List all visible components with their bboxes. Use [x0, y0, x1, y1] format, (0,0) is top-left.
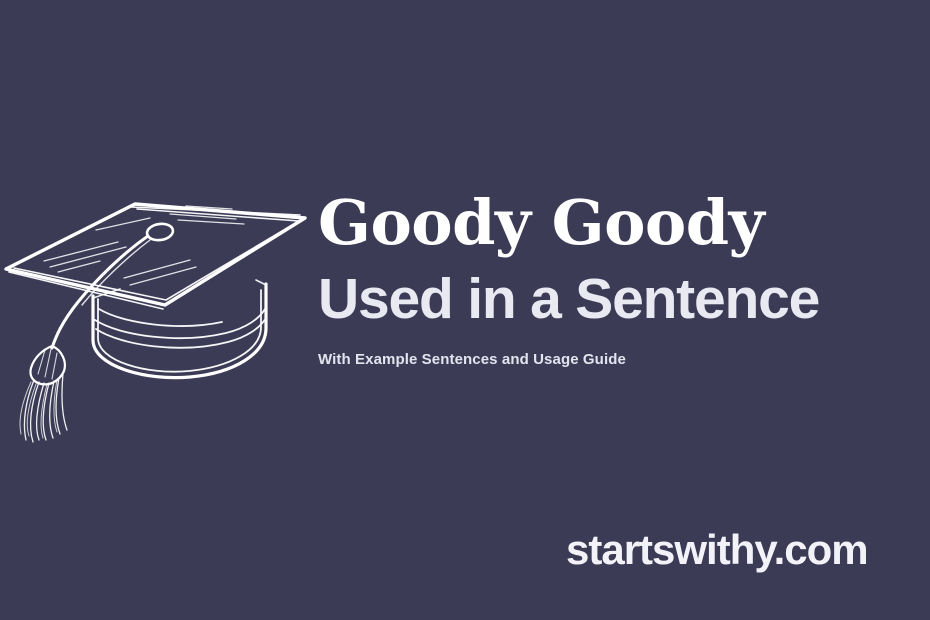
- page-title-term: Goody Goody: [318, 186, 918, 260]
- page-title-phrase: Used in a Sentence: [318, 266, 918, 332]
- brand-wordmark: startswithy.com: [566, 524, 868, 576]
- tagline: With Example Sentences and Usage Guide: [318, 350, 918, 370]
- graduation-cap-icon: [0, 168, 310, 458]
- headline-block: Goody Goody Used in a Sentence With Exam…: [318, 186, 918, 370]
- promo-card: Goody Goody Used in a Sentence With Exam…: [0, 0, 930, 620]
